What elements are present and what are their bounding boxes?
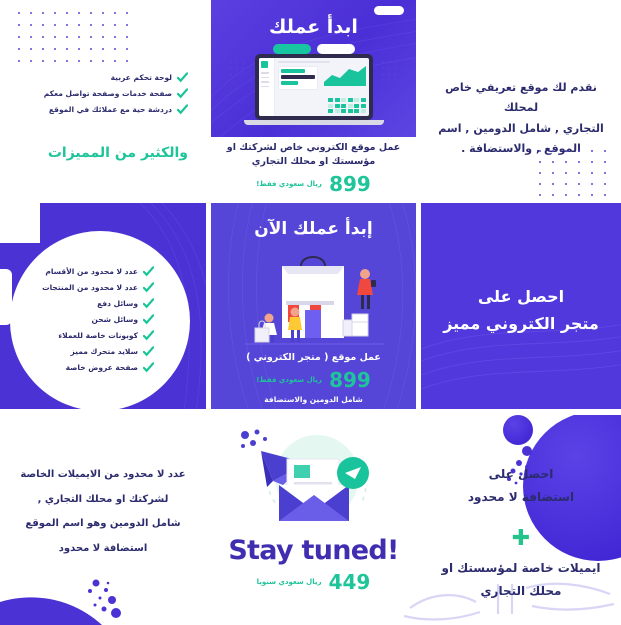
list-item: صفحة خدمات وصفحة تواصل معكم — [44, 88, 188, 99]
section-title-middle-center: إبدأ عملك الآن — [211, 219, 416, 239]
list-item-label: لوحة تحكم عربية — [111, 73, 172, 82]
hero-card-website: ابدأ عملك — [211, 0, 416, 137]
check-icon — [143, 314, 154, 325]
price-number: 449 — [329, 570, 371, 594]
price-unit: ريال سعودي سنويا — [257, 578, 322, 586]
panel-bottom-center: Stay tuned! 449 ريال سعودي سنويا — [211, 415, 416, 625]
feature-checklist-top-left: لوحة تحكم عربية صفحة خدمات وصفحة تواصل م… — [44, 72, 188, 120]
panel-top-center: ابدأ عملك — [211, 0, 416, 197]
text-bottom-right-top: احصل على استضافة لا محدود — [431, 463, 611, 509]
check-icon — [177, 88, 188, 99]
decor-pill-white — [317, 44, 355, 54]
list-item-label: عدد لا محدود من المنتجات — [42, 283, 138, 292]
decor-pill-teal — [273, 44, 311, 54]
list-item: صفحة عروض خاصة — [42, 362, 154, 373]
price-number: 899 — [329, 368, 371, 392]
heading-line: احصل على — [433, 283, 609, 310]
decor-notch — [0, 203, 40, 243]
price-number: 899 — [329, 172, 371, 196]
paragraph-line: شامل الدومين وهو اسم الموقع — [8, 512, 198, 537]
panel-top-right: نقدم لك موقع تعريفي خاص لمحلك التجاري , … — [421, 0, 621, 197]
decor-quarter-circle — [0, 543, 130, 625]
paragraph-top-right: نقدم لك موقع تعريفي خاص لمحلك التجاري , … — [433, 78, 609, 159]
list-item-label: عدد لا محدود من الأقسام — [45, 267, 138, 276]
caption-block-middle-center: عمل موقع ( متجر الكتروني ) 899 ريال سعود… — [217, 351, 410, 404]
check-icon — [143, 330, 154, 341]
list-item: سلايد متحرك مميز — [42, 346, 154, 357]
stay-tuned-title: Stay tuned! — [211, 535, 416, 566]
hero-title: ابدأ عملك — [211, 16, 416, 38]
list-item-label: كوبونات خاصة للعملاء — [58, 331, 138, 340]
laptop-icon — [255, 54, 373, 125]
tagline-more-features: والكثير من المميزات — [48, 145, 188, 161]
plus-icon: ✚ — [421, 528, 621, 550]
list-item: عدد لا محدود من المنتجات — [42, 282, 154, 293]
caption-sub: شامل الدومين والاستضافة — [217, 395, 410, 404]
paragraph-line: لشركتك او محلك التجاري , — [8, 488, 198, 513]
list-item: وسائل شحن — [42, 314, 154, 325]
price-unit: ريال سعودي فقط! — [256, 180, 322, 188]
list-item-label: سلايد متحرك مميز — [71, 347, 139, 356]
list-item-label: وسائل شحن — [91, 315, 138, 324]
paragraph-line: نقدم لك موقع تعريفي خاص لمحلك — [433, 78, 609, 119]
list-item-label: وسائل دفع — [97, 299, 138, 308]
panel-middle-center: إبدأ عملك الآن — [211, 203, 416, 409]
price-row: 899 ريال سعودي فقط! — [217, 172, 410, 196]
list-item: وسائل دفع — [42, 298, 154, 309]
decor-pill-top — [374, 6, 404, 15]
heading-middle-right: احصل على متجر الكتروني مميز — [433, 283, 609, 337]
advertisement-sheet: لوحة تحكم عربية صفحة خدمات وصفحة تواصل م… — [0, 0, 621, 625]
check-icon — [143, 346, 154, 357]
dot-matrix-decoration — [18, 12, 138, 72]
heading-line: استضافة لا محدود — [431, 486, 611, 509]
check-icon — [143, 266, 154, 277]
list-item: لوحة تحكم عربية — [44, 72, 188, 83]
caption-line-1: عمل موقع ( متجر الكتروني ) — [217, 351, 410, 365]
price-unit: ريال سعودي فقط! — [256, 376, 322, 384]
feature-checklist-middle-left: عدد لا محدود من الأقسام عدد لا محدود من … — [42, 266, 154, 378]
list-item: عدد لا محدود من الأقسام — [42, 266, 154, 277]
panel-bottom-left: عدد لا محدود من الايميلات الخاصة لشركتك … — [0, 415, 206, 625]
paragraph-line: عدد لا محدود من الايميلات الخاصة — [8, 463, 198, 488]
panel-top-left: لوحة تحكم عربية صفحة خدمات وصفحة تواصل م… — [0, 0, 206, 197]
paragraph-line: التجاري , شامل الدومين , اسم — [433, 119, 609, 139]
shopping-bag-icon — [239, 248, 389, 358]
list-item-label: صفحة خدمات وصفحة تواصل معكم — [44, 89, 172, 98]
check-icon — [143, 282, 154, 293]
heading-line: محلك التجاري — [427, 580, 615, 603]
heading-line: احصل على — [431, 463, 611, 486]
price-row-bottom-center: 449 ريال سعودي سنويا — [211, 570, 416, 594]
list-item: كوبونات خاصة للعملاء — [42, 330, 154, 341]
dot-matrix-decoration — [539, 150, 617, 197]
list-item: دردشة حية مع عملائك في الموقع — [44, 104, 188, 115]
check-icon — [143, 298, 154, 309]
panel-middle-right: احصل على متجر الكتروني مميز — [421, 203, 621, 409]
check-icon — [143, 362, 154, 373]
caption-line-1: عمل موقع الكتروني خاص لشركتك او — [217, 141, 410, 155]
list-item-label: صفحة عروض خاصة — [66, 363, 138, 372]
check-icon — [177, 72, 188, 83]
area-chart-icon — [324, 64, 366, 86]
heading-line: متجر الكتروني مميز — [433, 310, 609, 337]
price-row: 899 ريال سعودي فقط! — [217, 368, 410, 392]
panel-middle-left: عدد لا محدود من الأقسام عدد لا محدود من … — [0, 203, 206, 409]
envelope-icon — [239, 429, 389, 534]
list-item-label: دردشة حية مع عملائك في الموقع — [49, 105, 172, 114]
check-icon — [177, 104, 188, 115]
text-bottom-right-bottom: ايميلات خاصة لمؤسستك او محلك التجاري — [427, 557, 615, 603]
panel-bottom-right: احصل على استضافة لا محدود ✚ ايميلات خاصة… — [421, 415, 621, 625]
heading-line: ايميلات خاصة لمؤسستك او — [427, 557, 615, 580]
caption-block-top-center: عمل موقع الكتروني خاص لشركتك او مؤسستك ا… — [217, 141, 410, 197]
caption-line-2: مؤسستك او محلك التجاري — [217, 155, 410, 169]
